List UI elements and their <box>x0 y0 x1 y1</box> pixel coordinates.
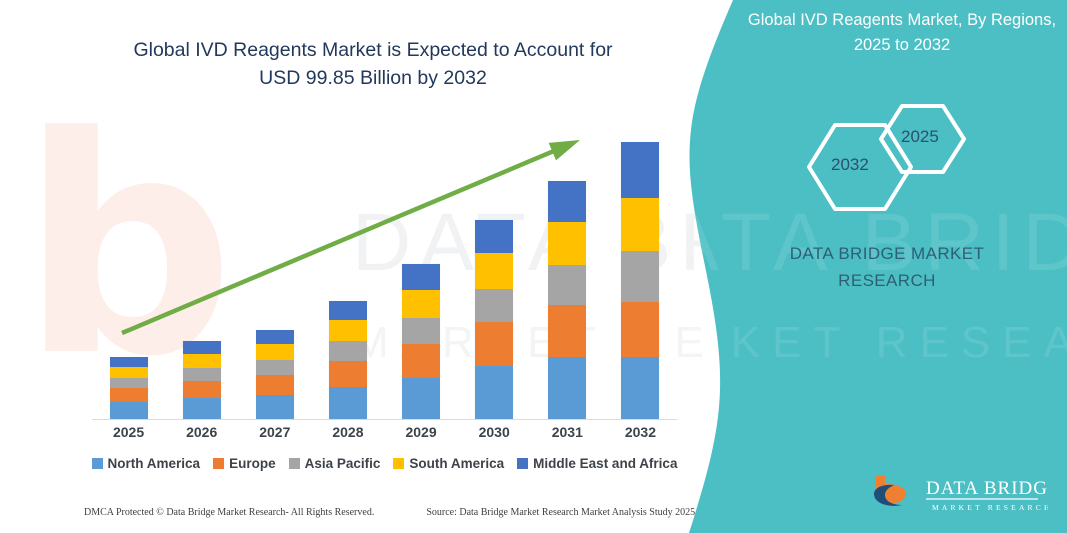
legend-label: Asia Pacific <box>305 456 381 471</box>
legend-item[interactable]: Asia Pacific <box>289 456 381 471</box>
trend-arrow-icon <box>92 120 677 420</box>
panel-brand: DATA BRIDGE MARKET RESEARCH <box>772 240 1002 294</box>
legend-swatch <box>92 458 103 469</box>
legend-item[interactable]: Middle East and Africa <box>517 456 677 471</box>
logo-mark-icon <box>874 476 906 506</box>
x-axis-tick: 2030 <box>458 424 531 440</box>
x-axis-labels: 20252026202720282029203020312032 <box>92 424 677 440</box>
x-axis-tick: 2031 <box>531 424 604 440</box>
footer: DMCA Protected © Data Bridge Market Rese… <box>84 507 684 518</box>
panel-title: Global IVD Reagents Market, By Regions, … <box>747 8 1057 58</box>
logo-wordmark: DATA BRIDGE <box>926 478 1048 499</box>
legend-label: Middle East and Africa <box>533 456 677 471</box>
legend-swatch <box>517 458 528 469</box>
legend-label: South America <box>409 456 504 471</box>
hexagon-group: 2032 2025 <box>795 95 995 235</box>
legend-item[interactable]: South America <box>393 456 504 471</box>
hexagon-2025-label: 2025 <box>901 127 939 147</box>
data-bridge-logo: DATA BRIDGE MARKET RESEARCH <box>868 470 1048 518</box>
x-axis-tick: 2026 <box>165 424 238 440</box>
legend-item[interactable]: Europe <box>213 456 276 471</box>
x-axis-tick: 2028 <box>311 424 384 440</box>
chart-legend: North AmericaEuropeAsia PacificSouth Ame… <box>92 456 677 471</box>
arrow-shaft <box>122 150 556 333</box>
page-title: Global IVD Reagents Market is Expected t… <box>118 36 628 92</box>
logo-tagline: MARKET RESEARCH <box>932 503 1048 512</box>
footer-source: Source: Data Bridge Market Research Mark… <box>426 507 695 518</box>
x-axis-tick: 2032 <box>604 424 677 440</box>
footer-copyright: DMCA Protected © Data Bridge Market Rese… <box>84 507 374 518</box>
legend-label: North America <box>108 456 201 471</box>
stacked-bar-chart <box>92 120 677 420</box>
panel-brand-line1: DATA BRIDGE MARKET <box>772 240 1002 267</box>
legend-label: Europe <box>229 456 276 471</box>
x-axis-tick: 2027 <box>238 424 311 440</box>
panel-brand-line2: RESEARCH <box>772 267 1002 294</box>
legend-swatch <box>289 458 300 469</box>
hexagon-2032-label: 2032 <box>831 155 869 175</box>
arrow-head <box>549 140 580 160</box>
legend-item[interactable]: North America <box>92 456 201 471</box>
legend-swatch <box>213 458 224 469</box>
x-axis-tick: 2025 <box>92 424 165 440</box>
legend-swatch <box>393 458 404 469</box>
hexagon-shapes <box>795 95 995 235</box>
right-panel: DATA BRIDGE MARKET RESEARCH Global IVD R… <box>677 0 1067 533</box>
x-axis-tick: 2029 <box>385 424 458 440</box>
